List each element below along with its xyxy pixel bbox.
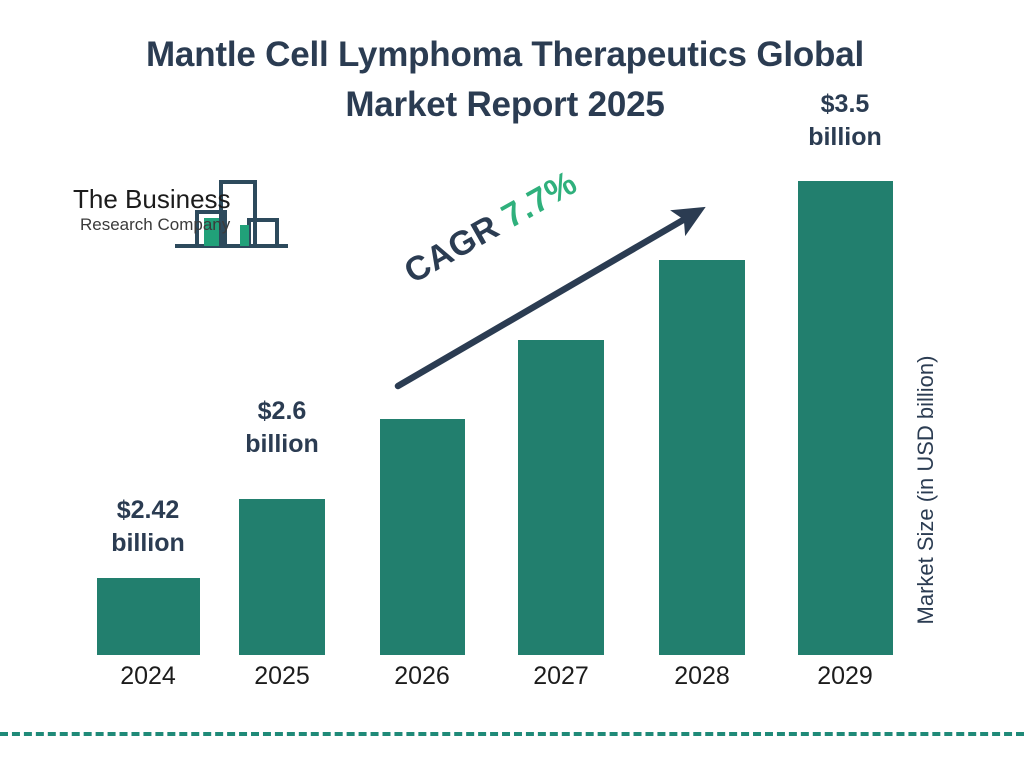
xtick-2025: 2025 bbox=[222, 662, 342, 691]
xtick-2029: 2029 bbox=[785, 662, 905, 691]
bar-2026 bbox=[380, 419, 465, 655]
y-axis-label-text: Market Size (in USD billion) bbox=[913, 356, 939, 625]
xtick-2024: 2024 bbox=[88, 662, 208, 691]
y-axis-label: Market Size (in USD billion) bbox=[905, 320, 947, 660]
footer-divider bbox=[0, 732, 1024, 736]
cagr-arrow-icon bbox=[380, 190, 720, 395]
bar-label-2029-line1: $3.5 bbox=[785, 88, 905, 121]
bar-label-2025: $2.6 billion bbox=[222, 395, 342, 461]
bar-label-2024-line2: billion bbox=[88, 527, 208, 560]
bar-label-2029: $3.5 billion bbox=[785, 88, 905, 154]
bar-label-2025-line2: billion bbox=[222, 428, 342, 461]
bar-label-2024: $2.42 billion bbox=[88, 494, 208, 560]
chart-page: Mantle Cell Lymphoma Therapeutics Global… bbox=[0, 0, 1024, 768]
xtick-2027: 2027 bbox=[501, 662, 621, 691]
bar-2024 bbox=[97, 578, 200, 655]
xtick-2028: 2028 bbox=[642, 662, 762, 691]
bar-2029 bbox=[798, 181, 893, 655]
xtick-2026: 2026 bbox=[362, 662, 482, 691]
bar-label-2029-line2: billion bbox=[785, 121, 905, 154]
bar-label-2025-line1: $2.6 bbox=[222, 395, 342, 428]
bar-chart-plot: $2.42 billion $2.6 billion $3.5 billion … bbox=[0, 0, 1024, 768]
bar-2025 bbox=[239, 499, 325, 655]
bar-label-2024-line1: $2.42 bbox=[88, 494, 208, 527]
